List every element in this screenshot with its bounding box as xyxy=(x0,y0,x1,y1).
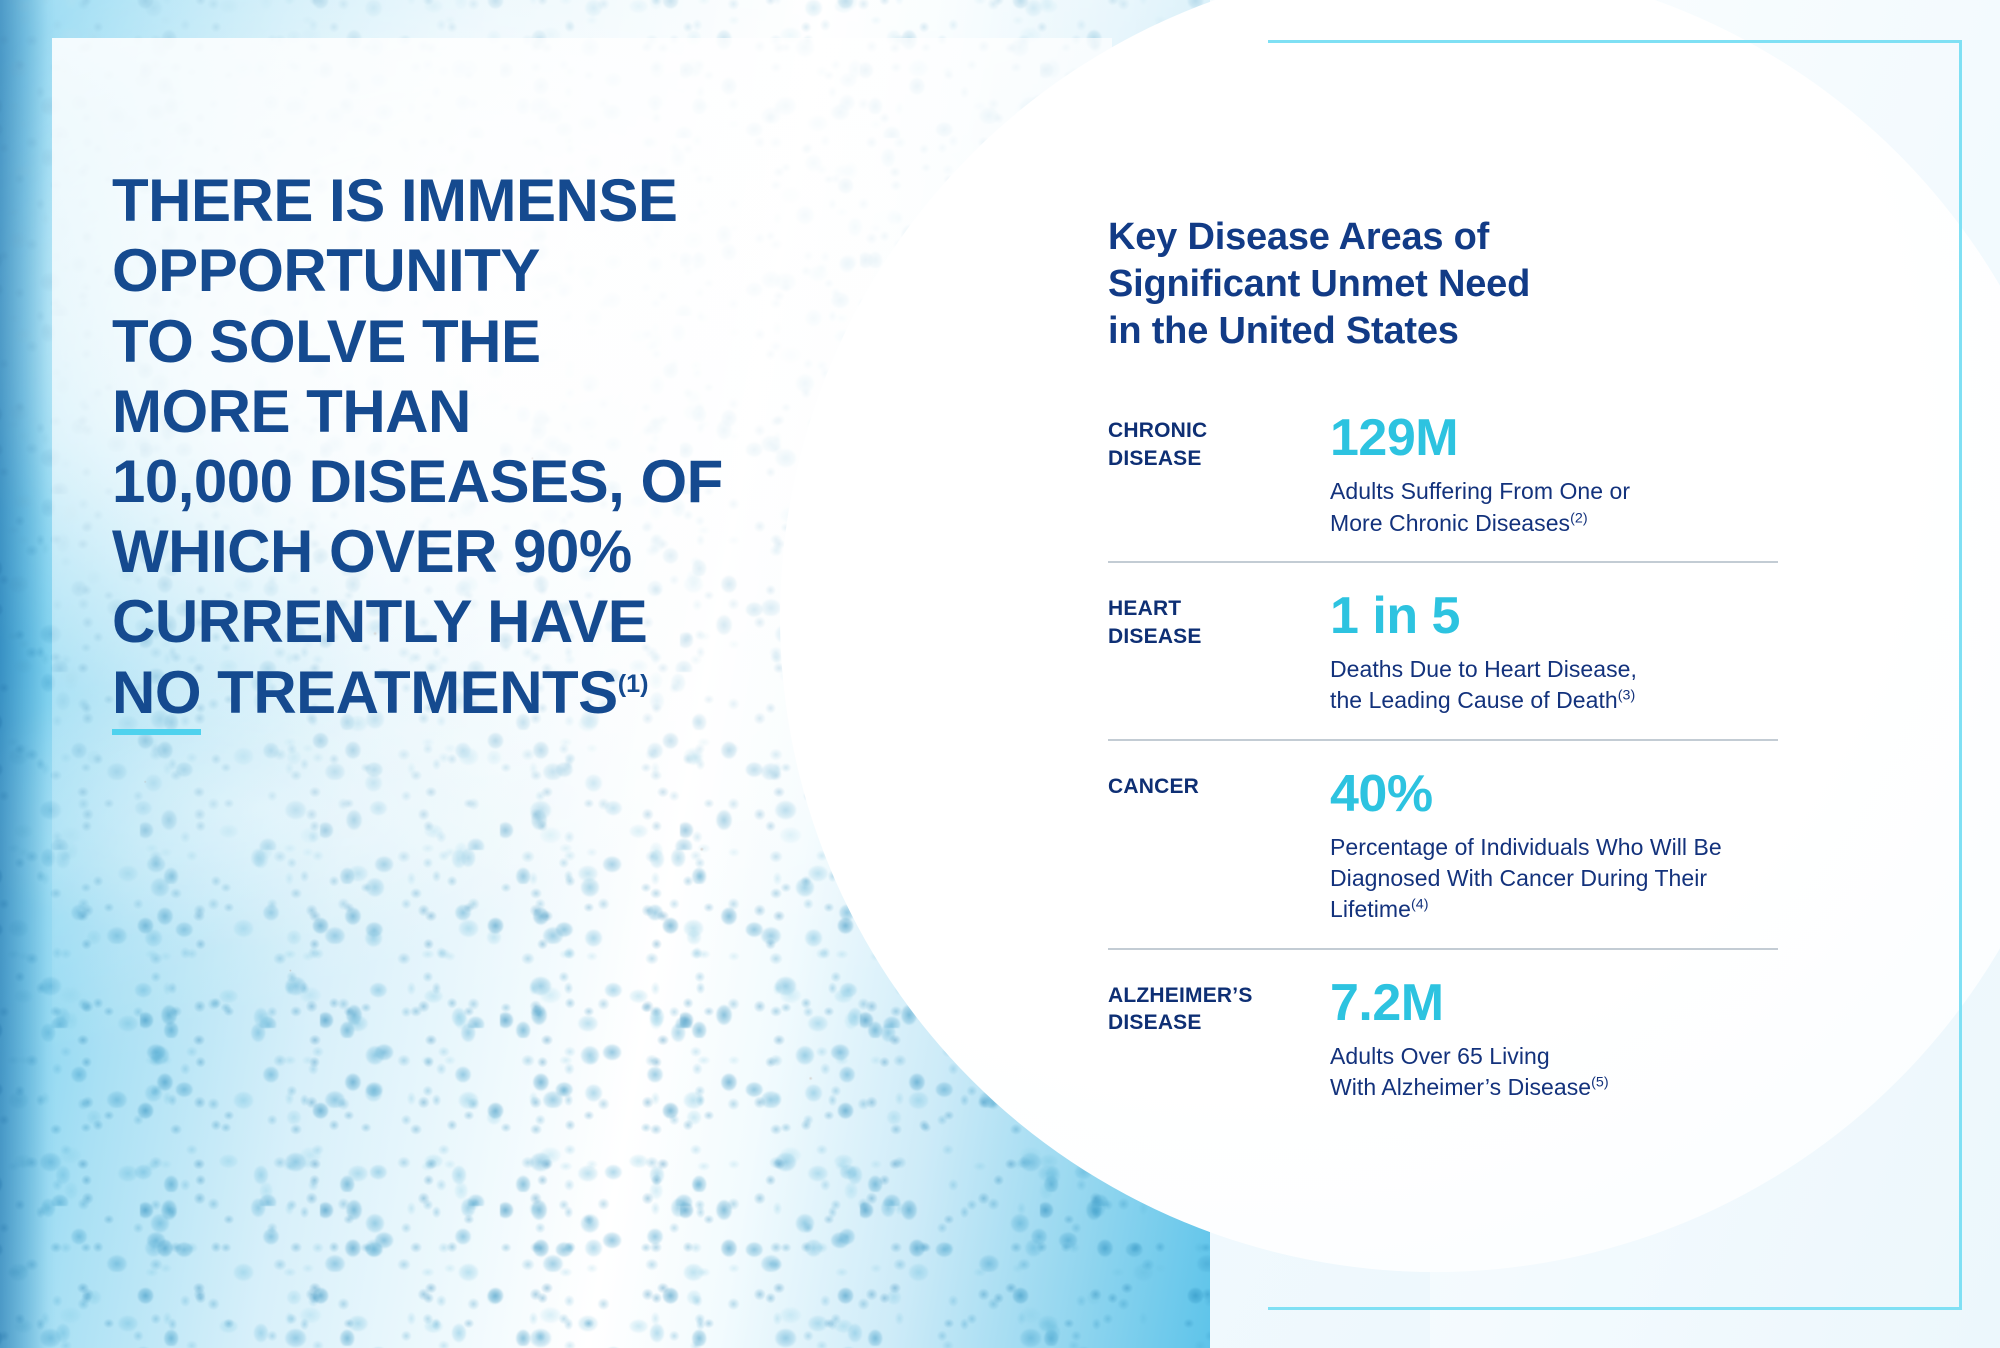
stat-description-heart-disease: Deaths Due to Heart Disease, the Leading… xyxy=(1330,654,1778,717)
stat-row-chronic-disease: CHRONIC DISEASE 129M Adults Suffering Fr… xyxy=(1108,411,1778,563)
headline-last-line-rest: TREATMENTS xyxy=(201,659,618,726)
infographic-slide: THERE IS IMMENSE OPPORTUNITY TO SOLVE TH… xyxy=(0,0,2000,1348)
stat-footnote-ref-chronic-disease: (2) xyxy=(1570,510,1588,526)
stat-value-alzheimers-disease: 7.2M xyxy=(1330,976,1778,1031)
key-disease-areas-panel: Key Disease Areas of Significant Unmet N… xyxy=(1108,214,1778,1125)
headline-line-8: NO TREATMENTS(1) xyxy=(112,658,932,728)
stat-desc-line-2-text: With Alzheimer’s Disease xyxy=(1330,1074,1591,1100)
headline-line-3: TO SOLVE THE xyxy=(112,307,932,377)
stat-desc-line-1: Adults Over 65 Living xyxy=(1330,1041,1778,1072)
stat-footnote-ref-cancer: (4) xyxy=(1411,897,1429,913)
stat-desc-line-2-text: the Leading Cause of Death xyxy=(1330,687,1618,713)
stat-label-alzheimers-disease: ALZHEIMER’S DISEASE xyxy=(1108,976,1330,1037)
stat-label-heart-disease: HEART DISEASE xyxy=(1108,589,1330,650)
stat-label-line-1: CANCER xyxy=(1108,773,1330,801)
stat-label-cancer: CANCER xyxy=(1108,767,1330,801)
stat-desc-line-1: Adults Suffering From One or xyxy=(1330,476,1778,507)
stat-label-line-2: DISEASE xyxy=(1108,1009,1330,1037)
headline-line-5: 10,000 DISEASES, OF xyxy=(112,447,932,517)
panel-heading-line-3: in the United States xyxy=(1108,308,1778,355)
stat-label-chronic-disease: CHRONIC DISEASE xyxy=(1108,411,1330,472)
headline-line-4: MORE THAN xyxy=(112,377,932,447)
stat-value-chronic-disease: 129M xyxy=(1330,411,1778,466)
headline-line-6: WHICH OVER 90% xyxy=(112,517,932,587)
stat-desc-line-1: Percentage of Individuals Who Will Be xyxy=(1330,832,1778,863)
stat-body-cancer: 40% Percentage of Individuals Who Will B… xyxy=(1330,767,1778,926)
headline-underlined-word: NO xyxy=(112,659,201,735)
panel-heading-line-1: Key Disease Areas of xyxy=(1108,214,1778,261)
stat-label-line-1: ALZHEIMER’S xyxy=(1108,982,1330,1010)
stat-value-cancer: 40% xyxy=(1330,767,1778,822)
stat-desc-line-2-text: More Chronic Diseases xyxy=(1330,510,1570,536)
panel-heading: Key Disease Areas of Significant Unmet N… xyxy=(1108,214,1778,355)
stat-label-line-2: DISEASE xyxy=(1108,623,1330,651)
stat-desc-line-2: More Chronic Diseases(2) xyxy=(1330,508,1778,539)
stat-desc-line-1: Deaths Due to Heart Disease, xyxy=(1330,654,1778,685)
stat-description-chronic-disease: Adults Suffering From One or More Chroni… xyxy=(1330,476,1778,539)
stat-value-heart-disease: 1 in 5 xyxy=(1330,589,1778,644)
headline-line-2: OPPORTUNITY xyxy=(112,236,932,306)
histology-left-edge-band xyxy=(0,0,56,1348)
stat-desc-line-3: Lifetime(4) xyxy=(1330,894,1778,925)
stat-desc-line-2: With Alzheimer’s Disease(5) xyxy=(1330,1072,1778,1103)
stat-desc-line-3-text: Lifetime xyxy=(1330,896,1411,922)
stat-body-alzheimers-disease: 7.2M Adults Over 65 Living With Alzheime… xyxy=(1330,976,1778,1104)
headline-line-7: CURRENTLY HAVE xyxy=(112,587,932,657)
stat-description-alzheimers-disease: Adults Over 65 Living With Alzheimer’s D… xyxy=(1330,1041,1778,1104)
headline-footnote-ref: (1) xyxy=(618,670,649,698)
headline-line-1: THERE IS IMMENSE xyxy=(112,166,932,236)
stat-row-heart-disease: HEART DISEASE 1 in 5 Deaths Due to Heart… xyxy=(1108,589,1778,741)
stat-row-alzheimers-disease: ALZHEIMER’S DISEASE 7.2M Adults Over 65 … xyxy=(1108,976,1778,1126)
panel-heading-line-2: Significant Unmet Need xyxy=(1108,261,1778,308)
stat-row-cancer: CANCER 40% Percentage of Individuals Who… xyxy=(1108,767,1778,950)
stat-label-line-1: HEART xyxy=(1108,595,1330,623)
stat-label-line-1: CHRONIC xyxy=(1108,417,1330,445)
stat-label-line-2: DISEASE xyxy=(1108,445,1330,473)
stat-body-chronic-disease: 129M Adults Suffering From One or More C… xyxy=(1330,411,1778,539)
stat-footnote-ref-heart-disease: (3) xyxy=(1618,688,1636,704)
stat-body-heart-disease: 1 in 5 Deaths Due to Heart Disease, the … xyxy=(1330,589,1778,717)
stat-footnote-ref-alzheimers-disease: (5) xyxy=(1591,1074,1609,1090)
stat-desc-line-2: the Leading Cause of Death(3) xyxy=(1330,685,1778,716)
stat-description-cancer: Percentage of Individuals Who Will Be Di… xyxy=(1330,832,1778,926)
stat-desc-line-2: Diagnosed With Cancer During Their xyxy=(1330,863,1778,894)
page-title: THERE IS IMMENSE OPPORTUNITY TO SOLVE TH… xyxy=(112,166,932,728)
